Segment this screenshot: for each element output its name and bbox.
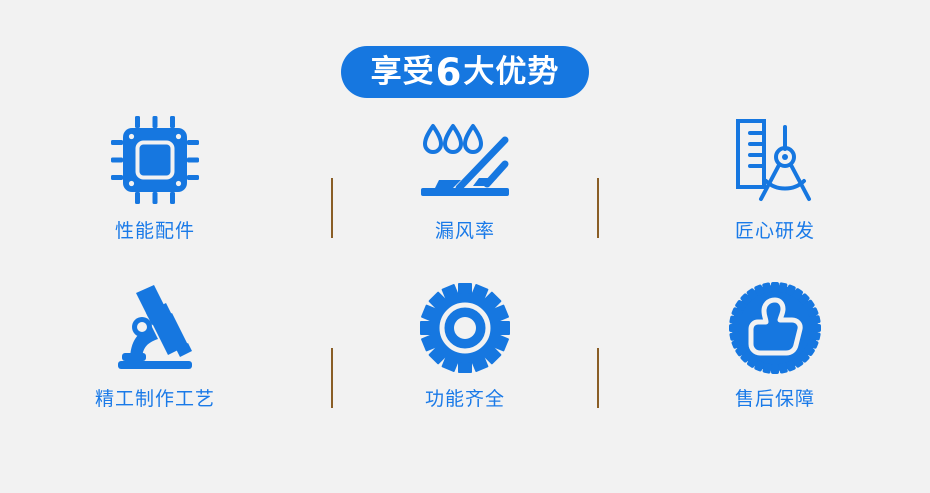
ruler-compass-icon xyxy=(725,112,825,208)
divider-row1-col1 xyxy=(331,178,333,238)
page-title-suffix: 大优势 xyxy=(463,57,559,88)
feature-grid: 性能配件 xyxy=(0,112,930,448)
feature-label: 功能齐全 xyxy=(425,390,505,409)
gear-icon xyxy=(415,280,515,376)
feature-item-air-leakage-rate: 漏风率 xyxy=(310,112,620,280)
page-title-badge: 享受6大优势 xyxy=(341,46,590,98)
thumbs-up-badge-icon xyxy=(725,280,825,376)
feature-item-precision-manufacturing: 精工制作工艺 xyxy=(0,280,310,448)
cpu-chip-icon xyxy=(105,112,205,208)
feature-label: 性能配件 xyxy=(115,222,195,241)
page-title-container: 享受6大优势 xyxy=(0,46,930,98)
divider-row2-col2 xyxy=(597,348,599,408)
feature-item-full-functionality: 功能齐全 xyxy=(310,280,620,448)
page-title-prefix: 享受 xyxy=(371,57,435,88)
divider-row2-col1 xyxy=(331,348,333,408)
feature-label: 匠心研发 xyxy=(735,222,815,241)
feature-item-performance-parts: 性能配件 xyxy=(0,112,310,280)
page-title-number: 6 xyxy=(435,54,464,91)
feature-label: 漏风率 xyxy=(435,222,495,241)
feature-item-after-sales-guarantee: 售后保障 xyxy=(620,280,930,448)
feature-highlights-banner: 享受6大优势 xyxy=(0,0,930,493)
feature-label: 售后保障 xyxy=(735,390,815,409)
feature-label: 精工制作工艺 xyxy=(95,390,215,409)
divider-row1-col2 xyxy=(597,178,599,238)
water-droplets-repellent-icon xyxy=(415,112,515,208)
feature-item-craftsmanship-rnd: 匠心研发 xyxy=(620,112,930,280)
microscope-icon xyxy=(105,280,205,376)
